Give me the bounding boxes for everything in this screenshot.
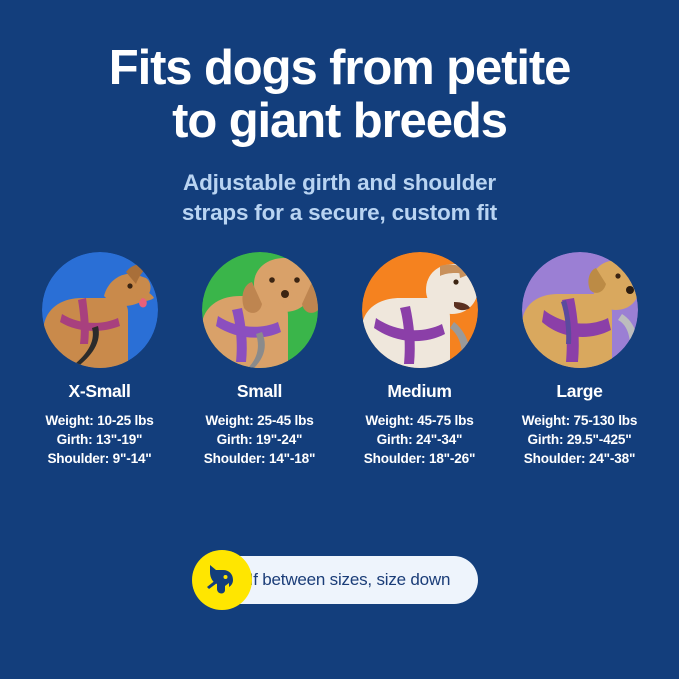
spec-shoulder: Shoulder: 9"-14" [45, 449, 153, 468]
size-card-large[interactable]: Large Weight: 75-130 lbs Girth: 29.5"-42… [500, 252, 660, 469]
dog-photo-small [202, 252, 318, 368]
size-name-small: Small [237, 381, 282, 402]
size-card-medium[interactable]: Medium Weight: 45-75 lbs Girth: 24"-34" … [340, 252, 500, 469]
size-card-small[interactable]: Small Weight: 25-45 lbs Girth: 19"-24" S… [180, 252, 340, 469]
dog-head-icon [192, 550, 252, 610]
size-card-x-small[interactable]: X-Small Weight: 10-25 lbs Girth: 13"-19"… [20, 252, 180, 469]
dog-photo-large [522, 252, 638, 368]
spec-girth: Girth: 24"-34" [364, 430, 475, 449]
spec-weight: Weight: 25-45 lbs [204, 411, 315, 430]
size-specs-medium: Weight: 45-75 lbs Girth: 24"-34" Shoulde… [364, 411, 475, 469]
size-specs-large: Weight: 75-130 lbs Girth: 29.5"-425" Sho… [522, 411, 638, 469]
sizing-note-wrap: If between sizes, size down [0, 556, 679, 604]
spec-weight: Weight: 75-130 lbs [522, 411, 638, 430]
size-name-large: Large [556, 381, 602, 402]
size-card-list: X-Small Weight: 10-25 lbs Girth: 13"-19"… [20, 252, 660, 469]
size-name-x-small: X-Small [68, 381, 130, 402]
sizing-note-pill: If between sizes, size down [201, 556, 479, 604]
page-subtitle: Adjustable girth and shoulder straps for… [80, 168, 600, 228]
size-specs-small: Weight: 25-45 lbs Girth: 19"-24" Shoulde… [204, 411, 315, 469]
spec-weight: Weight: 45-75 lbs [364, 411, 475, 430]
spec-shoulder: Shoulder: 24"-38" [522, 449, 638, 468]
spec-shoulder: Shoulder: 14"-18" [204, 449, 315, 468]
dog-photo-x-small [42, 252, 158, 368]
spec-weight: Weight: 10-25 lbs [45, 411, 153, 430]
size-specs-x-small: Weight: 10-25 lbs Girth: 13"-19" Shoulde… [45, 411, 153, 469]
spec-girth: Girth: 13"-19" [45, 430, 153, 449]
page-headline: Fits dogs from petite to giant breeds [40, 42, 640, 148]
size-name-medium: Medium [387, 381, 451, 402]
sizing-note-text: If between sizes, size down [249, 570, 451, 590]
dog-photo-medium [362, 252, 478, 368]
size-guide-page: Fits dogs from petite to giant breeds Ad… [0, 0, 679, 679]
spec-girth: Girth: 29.5"-425" [522, 430, 638, 449]
spec-girth: Girth: 19"-24" [204, 430, 315, 449]
spec-shoulder: Shoulder: 18"-26" [364, 449, 475, 468]
